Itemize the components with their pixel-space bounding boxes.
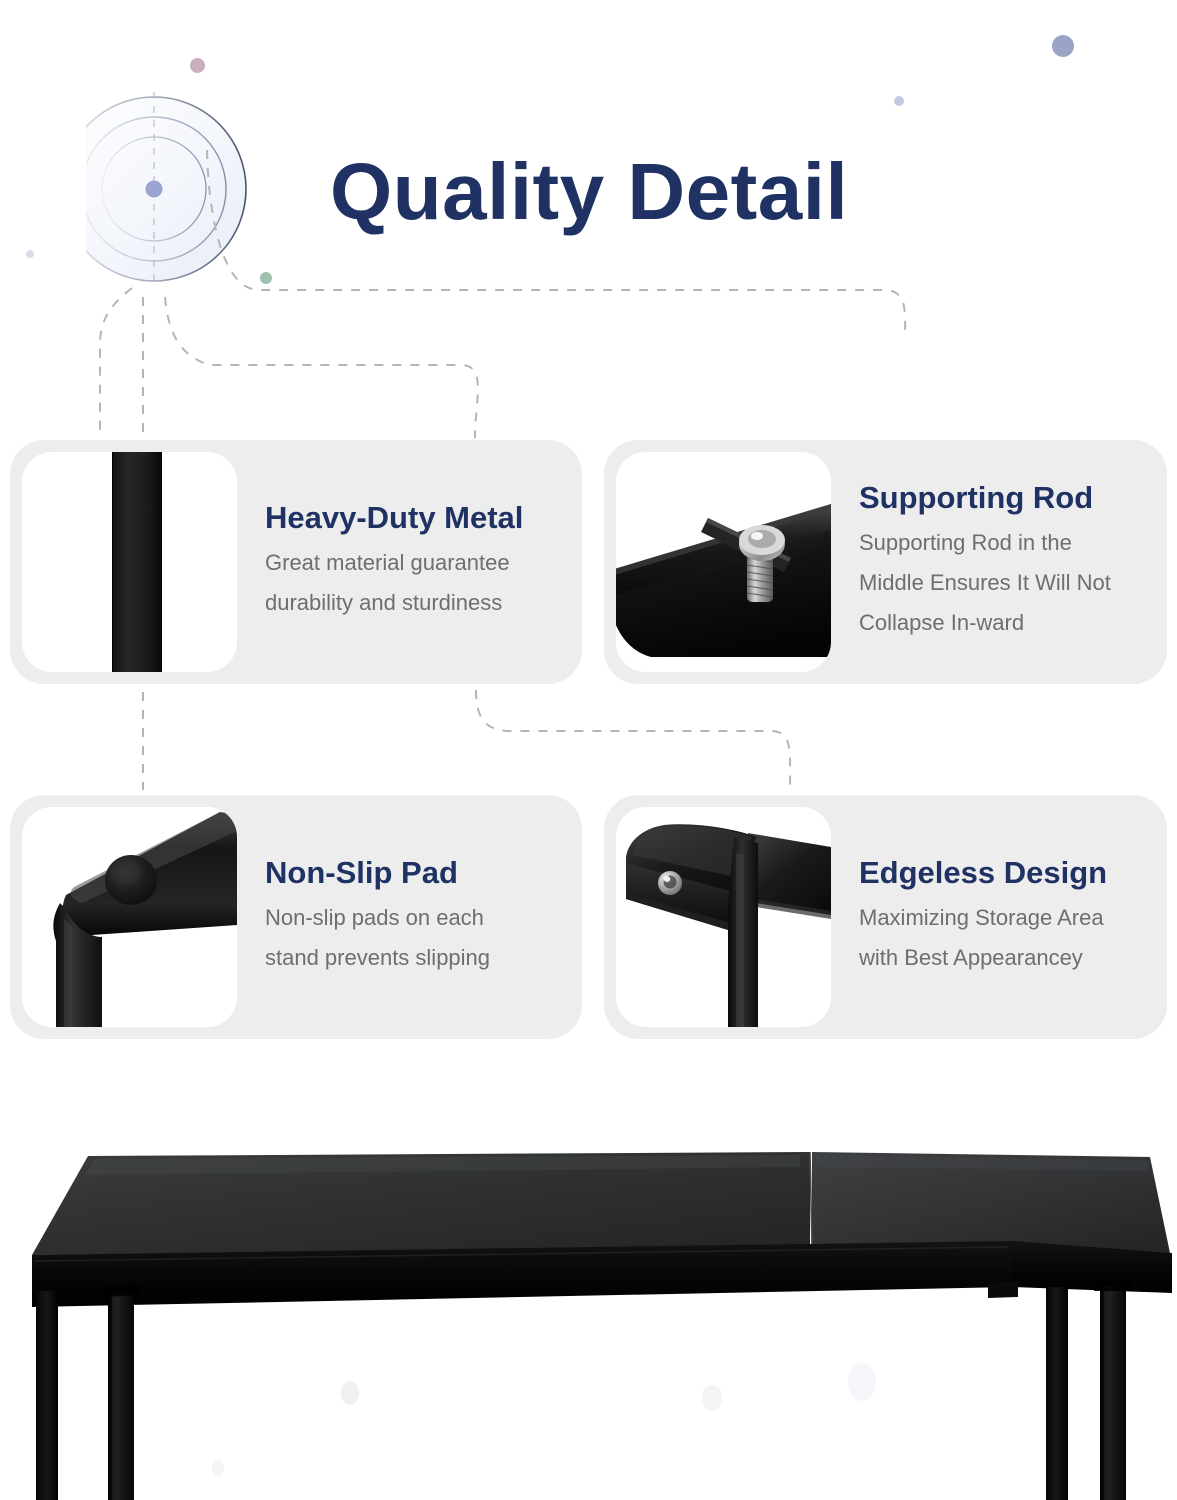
feature-heading: Non-Slip Pad <box>265 856 570 890</box>
feature-body-line: Great material guarantee <box>265 543 570 583</box>
table-leg-front-right <box>1100 1285 1126 1500</box>
table-leg-front-left <box>108 1291 134 1500</box>
radar-target-icon <box>86 84 286 294</box>
floor-dot <box>848 1363 876 1401</box>
table-leg-rear-right <box>1046 1287 1068 1500</box>
feature-body-line: durability and sturdiness <box>265 583 570 623</box>
quality-detail-infographic: Quality Detail Heavy-Duty Metal <box>0 0 1177 1500</box>
dot-blue-large-icon <box>1052 35 1074 57</box>
extension-tab <box>988 1281 1018 1298</box>
feature-body-line: stand prevents slipping <box>265 938 570 978</box>
feature-heading: Heavy-Duty Metal <box>265 501 570 535</box>
dot-radar-core-icon <box>146 181 163 198</box>
feature-text-supporting-rod: Supporting Rod Supporting Rod in the Mid… <box>831 481 1167 643</box>
product-photo-console-table <box>0 1095 1177 1500</box>
floor-dot <box>212 1460 224 1476</box>
feature-body-line: Middle Ensures It Will Not <box>859 563 1155 603</box>
metal-bar-shape <box>112 452 162 672</box>
feature-body-line: with Best Appearancey <box>859 938 1155 978</box>
feature-card-supporting-rod[interactable]: Supporting Rod Supporting Rod in the Mid… <box>604 440 1167 684</box>
feature-heading: Supporting Rod <box>859 481 1155 515</box>
floor-dot <box>702 1385 722 1411</box>
feature-text-edgeless-design: Edgeless Design Maximizing Storage Area … <box>831 856 1167 978</box>
dot-mauve-icon <box>190 58 205 73</box>
dot-blue-small-icon <box>894 96 904 106</box>
metal-bar-photo <box>22 452 237 672</box>
dot-pale-left-icon <box>26 250 34 258</box>
non-slip-pad-photo <box>22 807 237 1027</box>
feature-text-non-slip-pad: Non-Slip Pad Non-slip pads on each stand… <box>237 856 582 978</box>
table-leg-rear-left <box>36 1291 58 1500</box>
feature-body-line: Maximizing Storage Area <box>859 898 1155 938</box>
floor-dot <box>341 1381 359 1405</box>
feature-body-line: Non-slip pads on each <box>265 898 570 938</box>
edgeless-corner-photo <box>616 807 831 1027</box>
feature-card-non-slip-pad[interactable]: Non-Slip Pad Non-slip pads on each stand… <box>10 795 582 1039</box>
supporting-rod-photo <box>616 452 831 672</box>
feature-heading: Edgeless Design <box>859 856 1155 890</box>
feature-card-edgeless-design[interactable]: Edgeless Design Maximizing Storage Area … <box>604 795 1167 1039</box>
feature-text-heavy-duty-metal: Heavy-Duty Metal Great material guarante… <box>237 501 582 623</box>
feature-body-line: Supporting Rod in the <box>859 523 1155 563</box>
feature-card-heavy-duty-metal[interactable]: Heavy-Duty Metal Great material guarante… <box>10 440 582 684</box>
page-title: Quality Detail <box>330 152 1030 232</box>
feature-body-line: Collapse In-ward <box>859 603 1155 643</box>
